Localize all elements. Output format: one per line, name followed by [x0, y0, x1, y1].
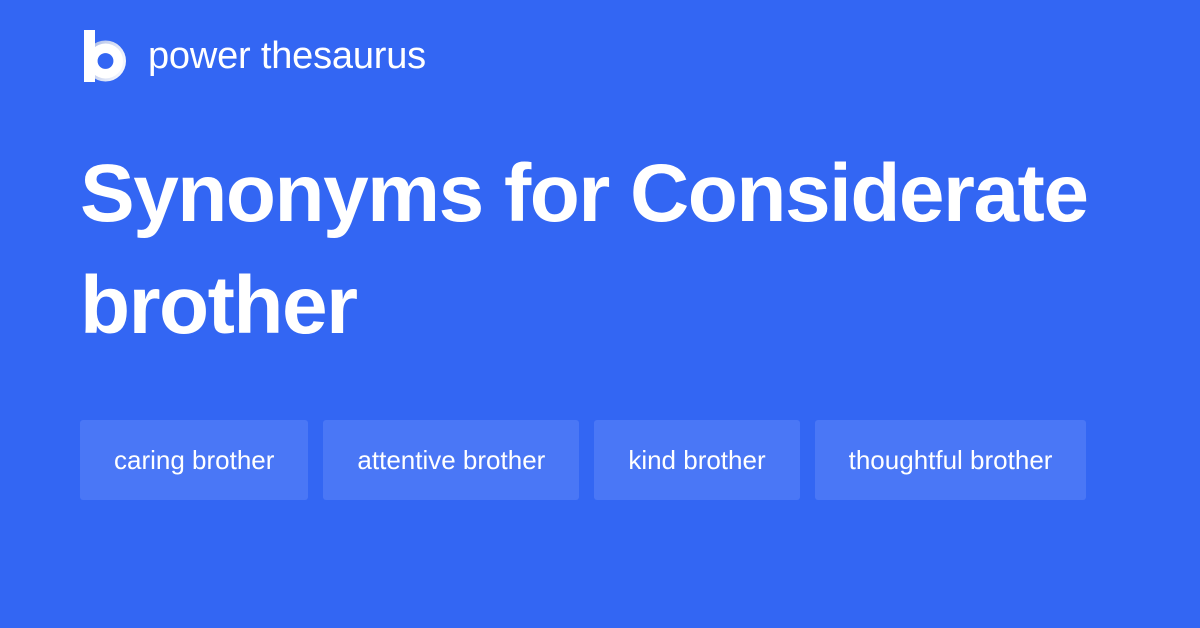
page-root: power thesaurus Synonyms for Considerate…: [0, 0, 1200, 628]
synonym-chip[interactable]: attentive brother: [323, 420, 579, 500]
page-title: Synonyms for Considerate brother: [80, 138, 1140, 362]
synonym-chip[interactable]: thoughtful brother: [815, 420, 1087, 500]
power-thesaurus-b-logo-icon: [80, 30, 126, 82]
brand-header[interactable]: power thesaurus: [80, 26, 426, 86]
synonym-chip[interactable]: caring brother: [80, 420, 308, 500]
brand-name: power thesaurus: [148, 34, 426, 78]
synonym-chip[interactable]: kind brother: [594, 420, 799, 500]
synonym-chip-list: caring brother attentive brother kind br…: [80, 420, 1130, 500]
